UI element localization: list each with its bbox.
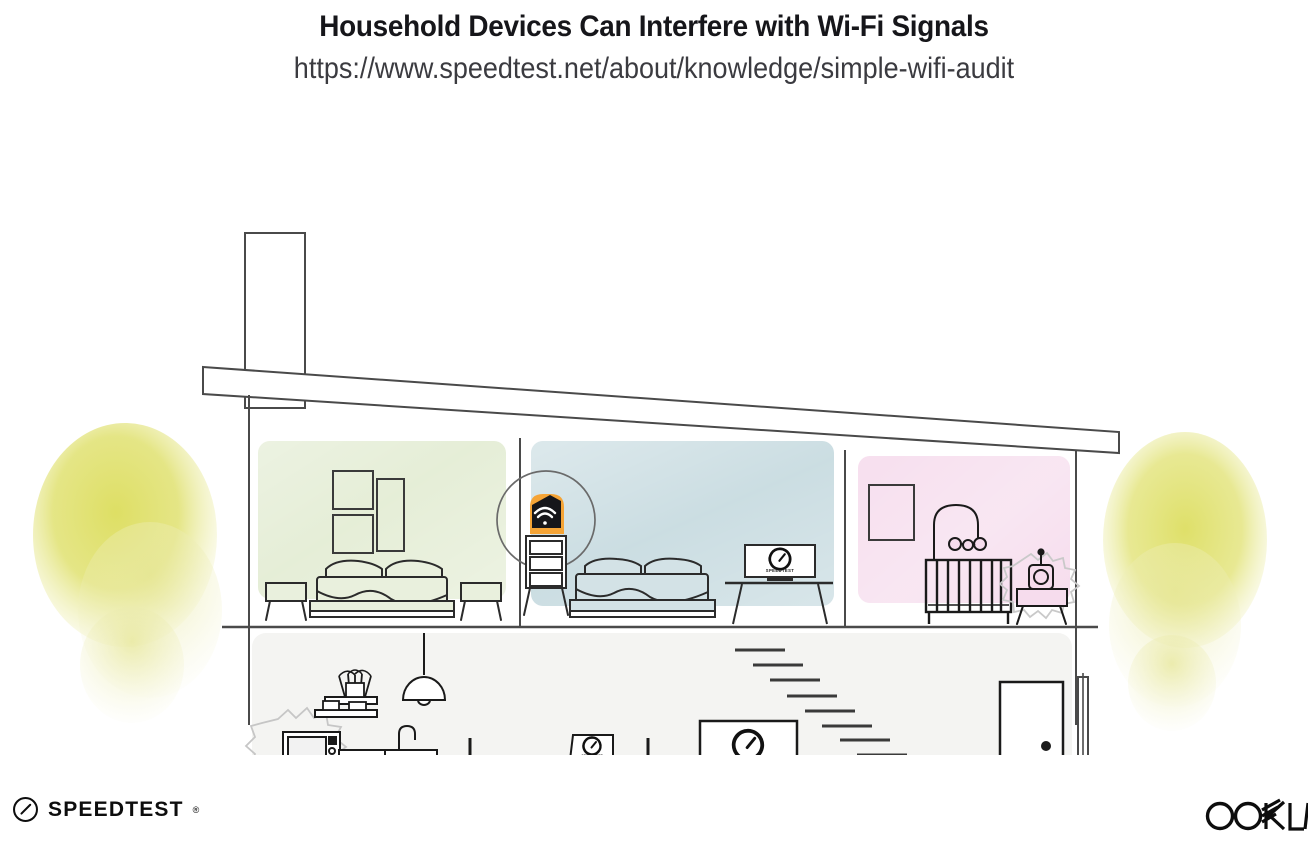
bed-green bbox=[310, 561, 454, 617]
nursery-table bbox=[1017, 589, 1067, 624]
microwave bbox=[283, 732, 340, 755]
nightstand-left-green bbox=[266, 583, 306, 620]
speedtest-wordmark: SPEEDTEST bbox=[48, 798, 184, 822]
speedtest-logo: SPEEDTEST ® bbox=[12, 796, 199, 823]
tv-living-room: SPEEDTEST bbox=[700, 721, 797, 755]
illustration-page: Household Devices Can Interfere with Wi-… bbox=[0, 0, 1308, 861]
tree-right bbox=[1103, 432, 1267, 731]
nightstand-right-green bbox=[461, 583, 501, 620]
speedtest-gauge-icon bbox=[12, 796, 39, 823]
speedtest-trademark: ® bbox=[193, 805, 200, 815]
room-bedroom-blue: SPEEDTEST bbox=[531, 441, 834, 624]
tv-bedroom-label: SPEEDTEST bbox=[766, 568, 795, 573]
footer: SPEEDTEST ® bbox=[0, 780, 1308, 861]
tree-left bbox=[33, 423, 222, 723]
ookla-logo bbox=[1204, 798, 1308, 839]
laptop-label: SPEEDTEST bbox=[581, 754, 603, 755]
wifi-router bbox=[530, 494, 564, 534]
page-url: https://www.speedtest.net/about/knowledg… bbox=[65, 44, 1242, 86]
header: Household Devices Can Interfere with Wi-… bbox=[0, 0, 1308, 86]
house-illustration: SPEEDTEST bbox=[0, 105, 1308, 755]
ookla-k-glyph bbox=[1262, 800, 1284, 829]
room-nursery-pink bbox=[858, 456, 1079, 624]
kitchen-shelf-lower bbox=[315, 710, 377, 717]
room-bedroom-green bbox=[258, 441, 506, 620]
door-knob bbox=[1041, 741, 1051, 751]
laptop: SPEEDTEST bbox=[566, 735, 618, 755]
page-title: Household Devices Can Interfere with Wi-… bbox=[46, 0, 1262, 44]
roof bbox=[203, 367, 1119, 453]
room-ground-floor bbox=[252, 633, 1072, 755]
